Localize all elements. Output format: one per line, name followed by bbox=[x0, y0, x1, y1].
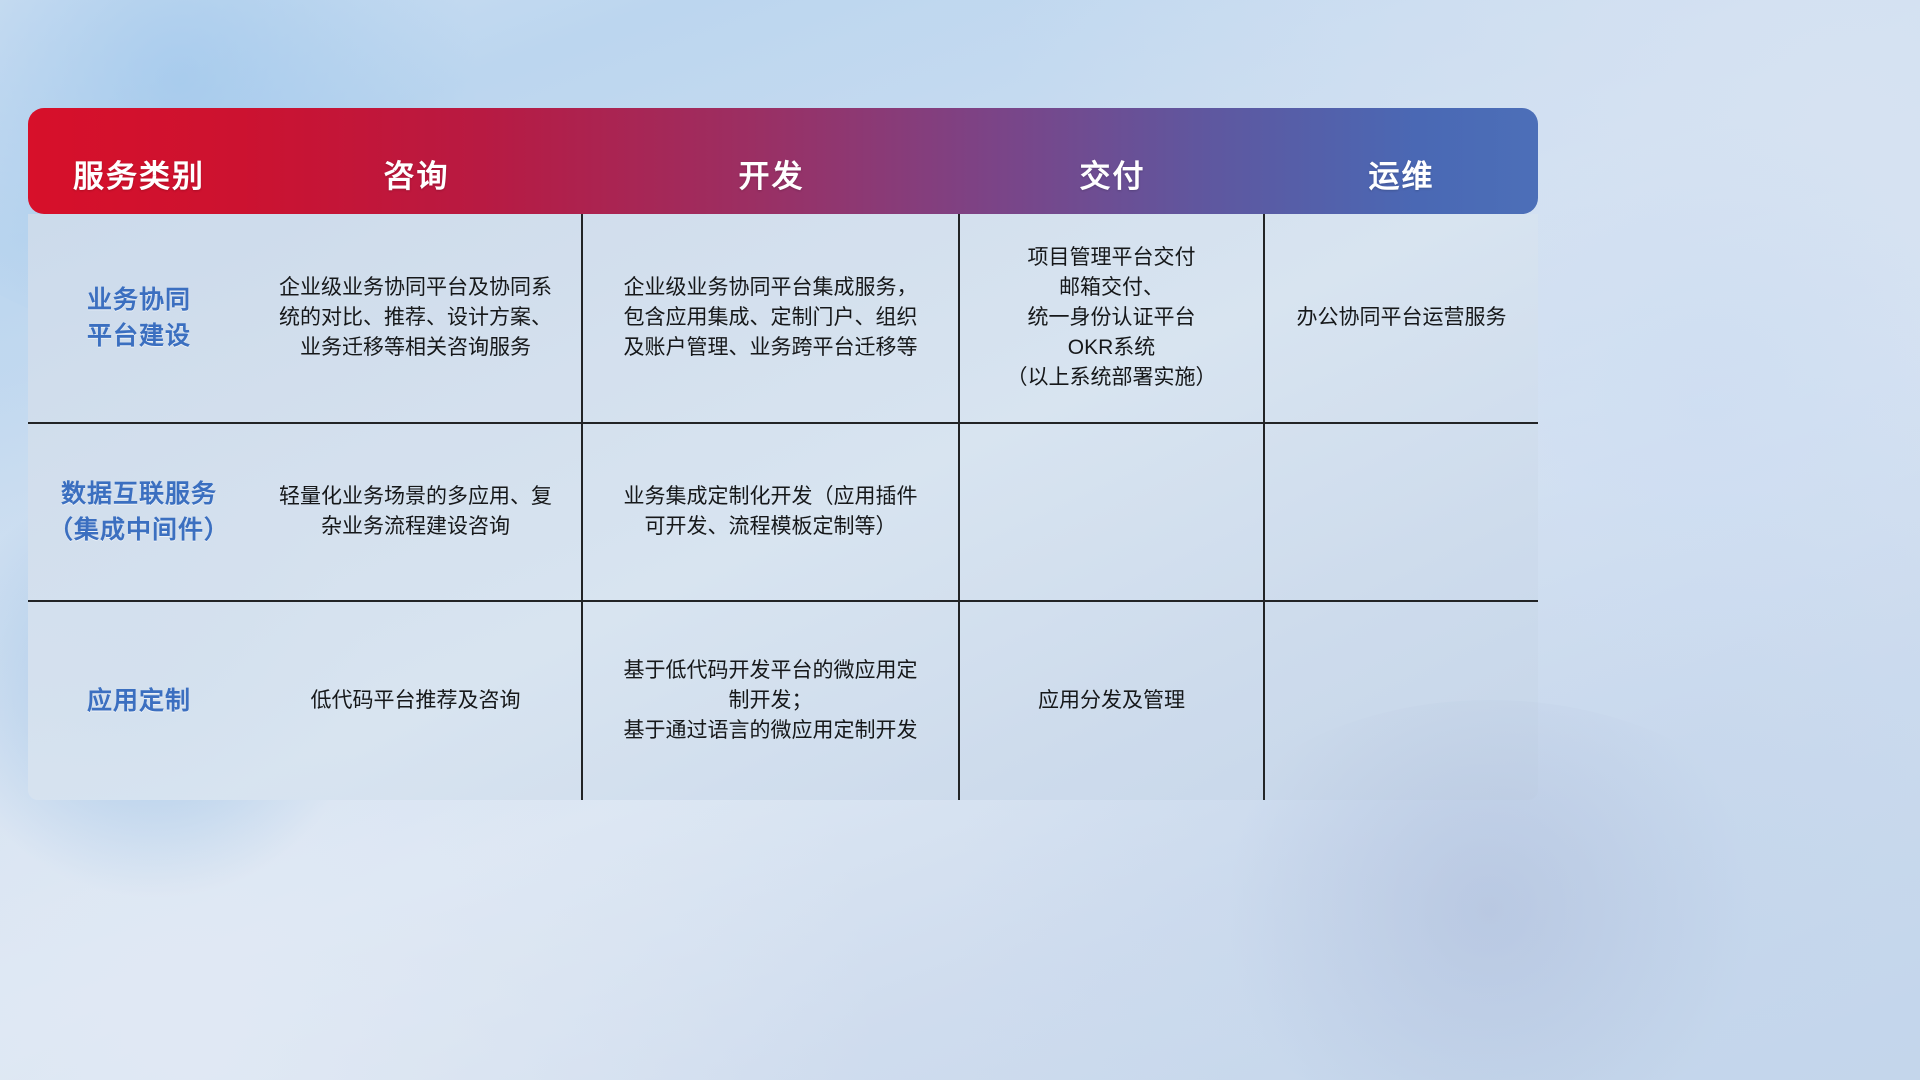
column-header-consulting: 咨询 bbox=[250, 108, 583, 214]
cell-operations-row-2 bbox=[1265, 602, 1538, 800]
cell-delivery-row-2: 应用分发及管理 bbox=[960, 602, 1265, 800]
table-row: 应用定制 低代码平台推荐及咨询 基于低代码开发平台的微应用定 制开发； 基于通过… bbox=[28, 602, 1538, 800]
row-label-data-interconnect: 数据互联服务 （集成中间件） bbox=[28, 424, 250, 600]
cell-delivery-row-0: 项目管理平台交付 邮箱交付、 统一身份认证平台 OKR系统 （以上系统部署实施） bbox=[960, 214, 1265, 422]
cell-consulting-row-0: 企业级业务协同平台及协同系 统的对比、推荐、设计方案、 业务迁移等相关咨询服务 bbox=[250, 214, 583, 422]
table-row: 业务协同 平台建设 企业级业务协同平台及协同系 统的对比、推荐、设计方案、 业务… bbox=[28, 214, 1538, 424]
table-row: 数据互联服务 （集成中间件） 轻量化业务场景的多应用、复 杂业务流程建设咨询 业… bbox=[28, 424, 1538, 602]
cell-development-row-0: 企业级业务协同平台集成服务， 包含应用集成、定制门户、组织 及账户管理、业务跨平… bbox=[583, 214, 960, 422]
column-header-operations: 运维 bbox=[1265, 108, 1538, 214]
cell-consulting-row-1: 轻量化业务场景的多应用、复 杂业务流程建设咨询 bbox=[250, 424, 583, 600]
row-label-business-collaboration: 业务协同 平台建设 bbox=[28, 214, 250, 422]
table-body: 业务协同 平台建设 企业级业务协同平台及协同系 统的对比、推荐、设计方案、 业务… bbox=[28, 214, 1538, 800]
table-header-row: 服务类别 咨询 开发 交付 运维 bbox=[28, 108, 1538, 214]
service-category-matrix: 服务类别 咨询 开发 交付 运维 业务协同 平台建设 企业级业务协同平台及协同系… bbox=[28, 108, 1538, 800]
cell-operations-row-0: 办公协同平台运营服务 bbox=[1265, 214, 1538, 422]
column-header-delivery: 交付 bbox=[960, 108, 1265, 214]
column-header-category: 服务类别 bbox=[28, 108, 250, 214]
cell-development-row-2: 基于低代码开发平台的微应用定 制开发； 基于通过语言的微应用定制开发 bbox=[583, 602, 960, 800]
column-header-development: 开发 bbox=[583, 108, 960, 214]
cell-delivery-row-1 bbox=[960, 424, 1265, 600]
slide-canvas: 服务类别 咨询 开发 交付 运维 业务协同 平台建设 企业级业务协同平台及协同系… bbox=[0, 0, 1920, 1080]
cell-development-row-1: 业务集成定制化开发（应用插件 可开发、流程模板定制等） bbox=[583, 424, 960, 600]
row-label-application-customization: 应用定制 bbox=[28, 602, 250, 800]
cell-consulting-row-2: 低代码平台推荐及咨询 bbox=[250, 602, 583, 800]
cell-operations-row-1 bbox=[1265, 424, 1538, 600]
